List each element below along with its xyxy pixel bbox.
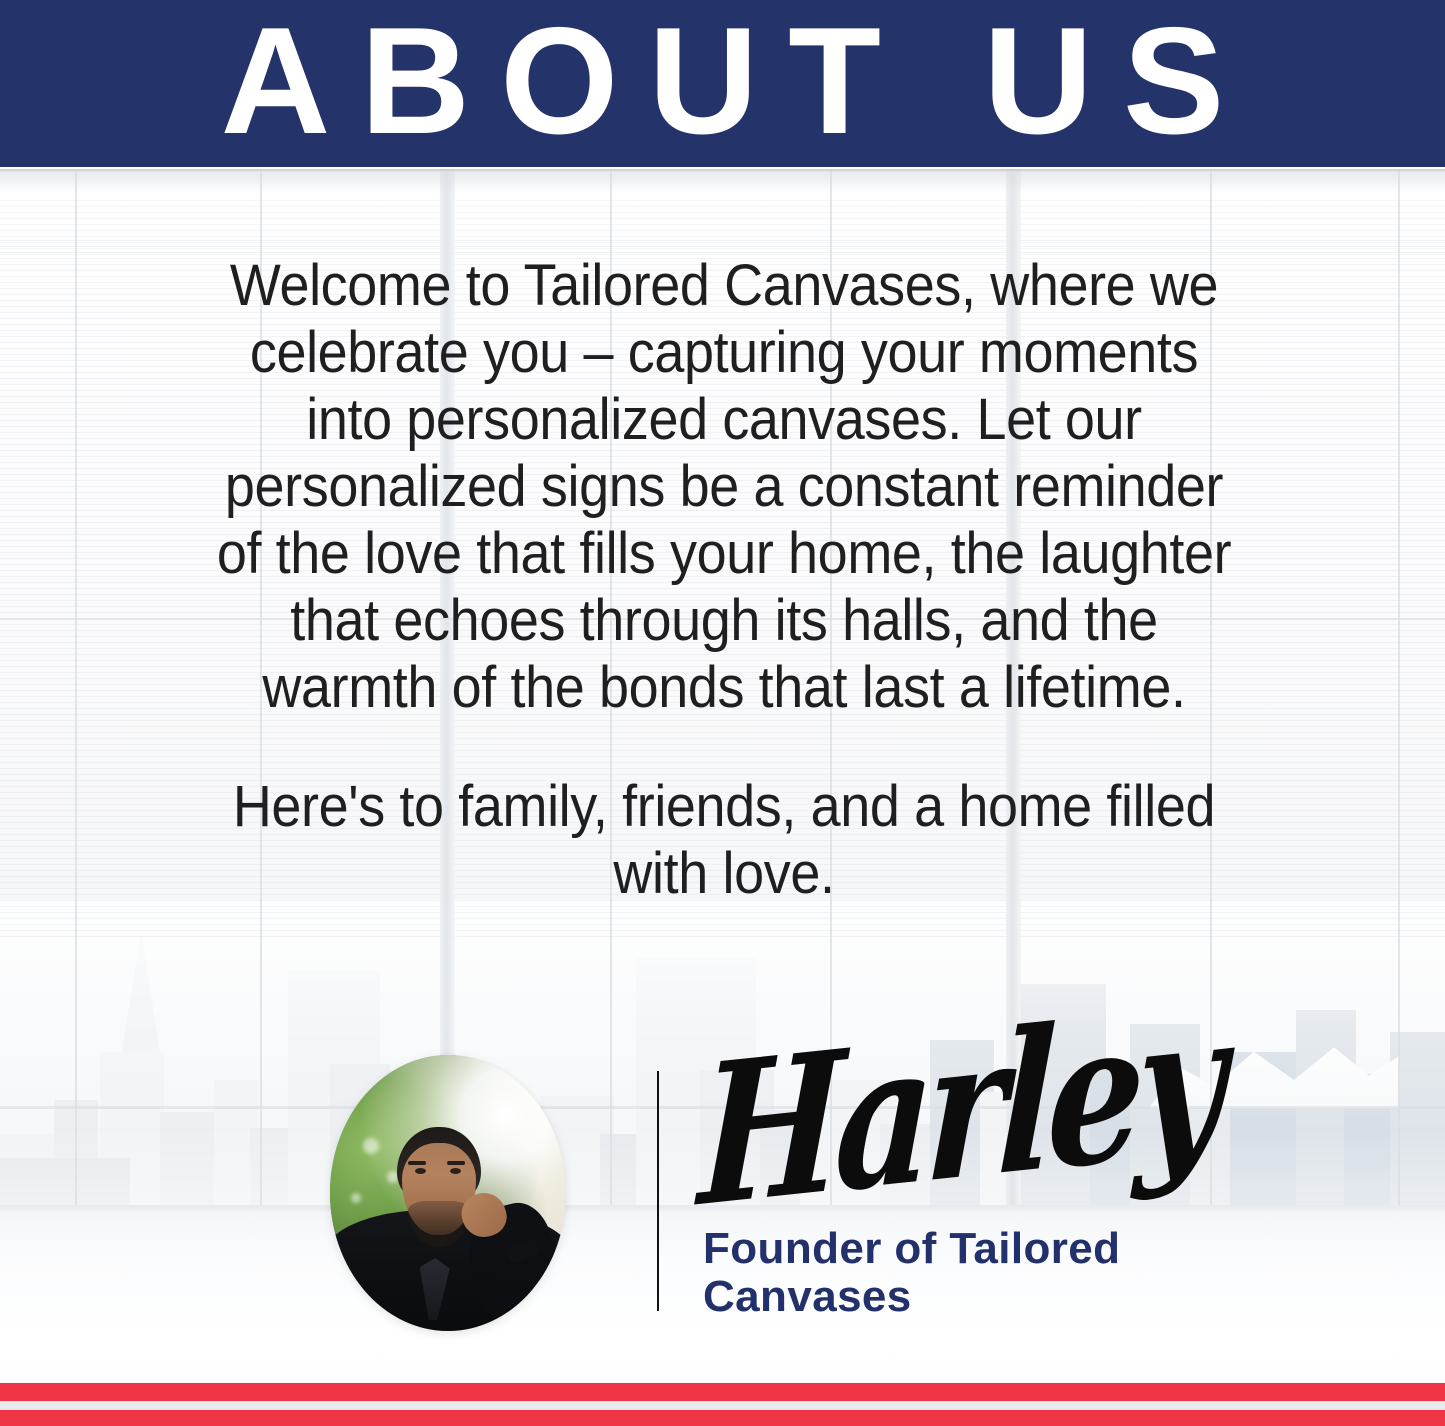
page-header-banner: ABOUT US [0,0,1445,167]
paragraph-1: Welcome to Tailored Canvases, where we c… [213,252,1234,721]
signature-divider [657,1071,659,1311]
banner-shadow [0,167,1445,193]
founder-portrait-image [330,1055,566,1331]
footer-bar-top [0,1383,1445,1401]
avatar [330,1055,566,1331]
page-title: ABOUT US [0,6,1445,156]
footer-bar-gap [0,1401,1445,1410]
founder-signature: Harley [697,986,1221,1234]
about-copy: Welcome to Tailored Canvases, where we c… [213,252,1234,907]
founder-title: Founder of Tailored Canvases [703,1225,1223,1321]
footer-bar-bottom [0,1410,1445,1426]
about-us-page: ABOUT US Welcome to Tailored Canvases, w… [0,0,1445,1426]
paragraph-2: Here's to family, friends, and a home fi… [213,773,1234,907]
window-blinds-texture-upper [0,200,1445,260]
paragraph-spacer [213,721,1234,773]
